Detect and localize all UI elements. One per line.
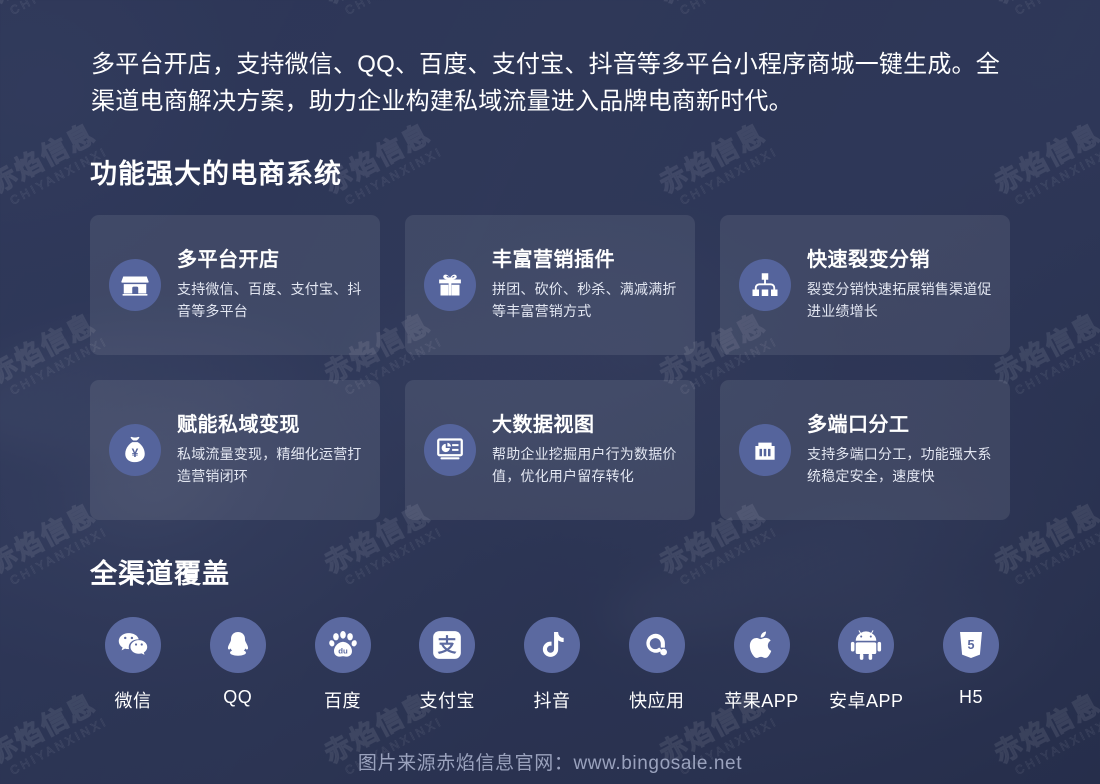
feature-card-title: 多端口分工 [807,413,996,437]
html5-icon: 5 [943,617,999,673]
feature-card-title: 丰富营销插件 [492,248,681,272]
page-content: 多平台开店，支持微信、QQ、百度、支付宝、抖音等多平台小程序商城一键生成。全渠道… [0,0,1100,784]
channel-item[interactable]: QQ [191,617,285,713]
feature-card-text: 丰富营销插件拼团、砍价、秒杀、满减满折等丰富营销方式 [492,248,681,322]
svg-text:du: du [338,647,348,656]
channel-label: 百度 [324,687,361,713]
douyin-icon [524,617,580,673]
channel-label: QQ [223,687,252,708]
feature-card-title: 大数据视图 [492,413,681,437]
feature-card[interactable]: 大数据视图帮助企业挖掘用户行为数据价值，优化用户留存转化 [405,380,695,520]
feature-card-text: 快速裂变分销裂变分销快速拓展销售渠道促进业绩增长 [807,248,996,322]
money-bag-icon: ¥ [109,424,161,476]
lead-paragraph: 多平台开店，支持微信、QQ、百度、支付宝、抖音等多平台小程序商城一键生成。全渠道… [91,46,1003,120]
channel-item[interactable]: 快应用 [610,617,704,713]
channel-item[interactable]: 微信 [86,617,180,713]
svg-text:支: 支 [438,635,457,656]
hierarchy-icon [739,259,791,311]
channel-label: 支付宝 [420,687,476,713]
feature-card-title: 赋能私域变现 [177,413,366,437]
feature-card-text: 多平台开店支持微信、百度、支付宝、抖音等多平台 [177,248,366,322]
feature-card-grid: 多平台开店支持微信、百度、支付宝、抖音等多平台 丰富营销插件拼团、砍价、秒杀、满… [90,215,1010,520]
page-root: 赤焰信息CHIYANXINXI赤焰信息CHIYANXINXI赤焰信息CHIYAN… [0,0,1100,784]
feature-card-title: 快速裂变分销 [807,248,996,272]
features-section-heading: 功能强大的电商系统 [90,152,342,191]
channel-label: 快应用 [629,687,685,713]
feature-card[interactable]: ¥ 赋能私域变现私域流量变现，精细化运营打造营销闭环 [90,380,380,520]
feature-card-description: 支持多端口分工，功能强大系统稳定安全，速度快 [807,444,996,487]
qq-icon [210,617,266,673]
channel-item[interactable]: 5 H5 [924,617,1018,713]
baidu-icon: du [315,617,371,673]
feature-card-text: 多端口分工支持多端口分工，功能强大系统稳定安全，速度快 [807,413,996,487]
channel-item[interactable]: du 百度 [296,617,390,713]
feature-card[interactable]: 快速裂变分销裂变分销快速拓展销售渠道促进业绩增长 [720,215,1010,355]
channel-label: 安卓APP [829,687,904,713]
feature-card-description: 拼团、砍价、秒杀、满减满折等丰富营销方式 [492,279,681,322]
channel-list: 微信 QQ du 百度 支 支付宝 抖音 快应用 苹果APP [86,617,1018,713]
channel-item[interactable]: 抖音 [505,617,599,713]
channel-label: 苹果APP [724,687,799,713]
feature-card[interactable]: 多平台开店支持微信、百度、支付宝、抖音等多平台 [90,215,380,355]
alipay-icon: 支 [419,617,475,673]
channel-label: 抖音 [534,687,571,713]
storefront-icon [109,259,161,311]
feature-card-description: 帮助企业挖掘用户行为数据价值，优化用户留存转化 [492,444,681,487]
channel-item[interactable]: 安卓APP [819,617,913,713]
quickapp-icon [629,617,685,673]
channel-item[interactable]: 支 支付宝 [400,617,494,713]
android-icon [838,617,894,673]
channel-item[interactable]: 苹果APP [715,617,809,713]
channel-label: 微信 [115,687,152,713]
feature-card-text: 大数据视图帮助企业挖掘用户行为数据价值，优化用户留存转化 [492,413,681,487]
feature-card-text: 赋能私域变现私域流量变现，精细化运营打造营销闭环 [177,413,366,487]
feature-card[interactable]: 多端口分工支持多端口分工，功能强大系统稳定安全，速度快 [720,380,1010,520]
feature-card-description: 私域流量变现，精细化运营打造营销闭环 [177,444,366,487]
apple-icon [734,617,790,673]
wechat-icon [105,617,161,673]
feature-card[interactable]: 丰富营销插件拼团、砍价、秒杀、满减满折等丰富营销方式 [405,215,695,355]
gift-icon [424,259,476,311]
svg-text:¥: ¥ [132,446,139,460]
data-board-icon [424,424,476,476]
channel-label: H5 [959,687,983,708]
channels-section-heading: 全渠道覆盖 [90,552,230,591]
svg-text:5: 5 [968,638,975,652]
feature-card-description: 裂变分销快速拓展销售渠道促进业绩增长 [807,279,996,322]
feature-card-description: 支持微信、百度、支付宝、抖音等多平台 [177,279,366,322]
feature-card-title: 多平台开店 [177,248,366,272]
footer-source-note: 图片来源赤焰信息官网：www.bingosale.net [0,748,1100,775]
ethernet-port-icon [739,424,791,476]
